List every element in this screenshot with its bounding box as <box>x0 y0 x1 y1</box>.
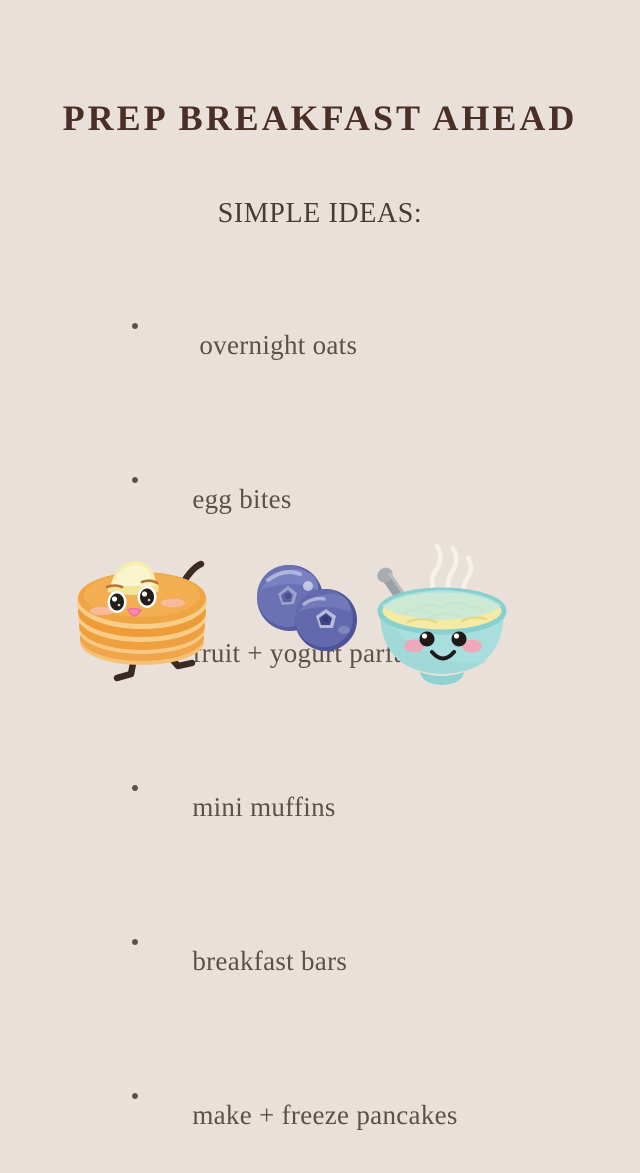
list-item-label: breakfast bars <box>192 946 347 976</box>
bullet-icon <box>132 785 138 791</box>
bullet-icon <box>132 939 138 945</box>
illustration-row <box>0 520 640 710</box>
list-item: breakfast bars <box>128 865 588 1019</box>
poster-canvas: PREP BREAKFAST AHEAD SIMPLE IDEAS: overn… <box>0 0 640 853</box>
bullet-icon <box>132 477 138 483</box>
subtitle: SIMPLE IDEAS: <box>0 198 640 230</box>
list-item: mini muffins <box>128 711 588 865</box>
list-item-label: egg bites <box>192 484 291 514</box>
list-item-label: make + freeze pancakes <box>192 1100 457 1130</box>
pancake-stack-icon <box>55 530 230 695</box>
list-item: make + freeze pancakes <box>128 1019 588 1173</box>
page-title: PREP BREAKFAST AHEAD <box>0 97 640 139</box>
bullet-icon <box>132 1093 138 1099</box>
ideas-list: overnight oats egg bites fruit + yogurt … <box>128 249 588 1173</box>
blueberries-icon <box>248 558 363 663</box>
list-item-label: mini muffins <box>192 792 335 822</box>
list-item-label: overnight oats <box>192 330 357 360</box>
oatmeal-bowl-icon <box>362 522 522 692</box>
bullet-icon <box>132 323 138 329</box>
list-item: overnight oats <box>128 249 588 403</box>
